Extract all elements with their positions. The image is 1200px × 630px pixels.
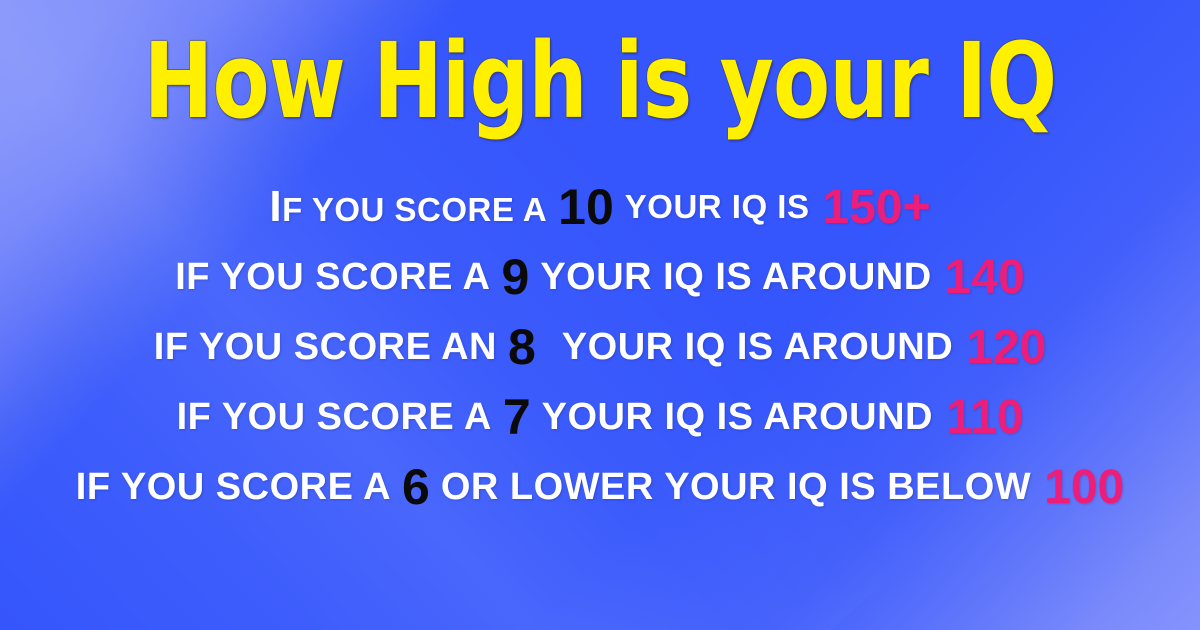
iq-value: 140 (941, 250, 1025, 305)
iq-value: 110 (942, 390, 1023, 445)
score-list: If you score a 10 your iq is 150+ if you… (0, 172, 1200, 522)
score-line: if you score a 7 your iq is around 110 (0, 382, 1200, 452)
score-value: 6 (400, 458, 432, 516)
score-line-middle: your iq is around (542, 396, 933, 439)
score-value: 8 (506, 318, 538, 376)
score-line-middle: your iq is around (540, 256, 931, 299)
iq-value: 100 (1040, 460, 1124, 515)
score-line-prefix: if you score a (177, 396, 492, 439)
score-line: if you score a 6 or lower your iq is bel… (0, 452, 1200, 522)
score-line-prefix: if you score a (175, 256, 490, 299)
score-line-middle: or lower your iq is below (441, 466, 1031, 509)
poster-content: How High is your IQ If you score a 10 yo… (0, 0, 1200, 630)
prefix-rest: f you score a (282, 191, 547, 228)
score-value: 10 (556, 178, 616, 236)
score-line-middle: your iq is (625, 188, 810, 226)
score-value: 7 (501, 388, 533, 446)
score-line-prefix: If you score a (269, 182, 547, 232)
score-value: 9 (500, 248, 532, 306)
score-line: if you score an 8 your iq is around 120 (0, 312, 1200, 382)
score-line: if you score a 9 your iq is around 140 (0, 242, 1200, 312)
score-line-prefix: if you score an (154, 326, 497, 369)
poster-title: How High is your IQ (120, 26, 1080, 136)
score-line-middle: your iq is around (562, 326, 953, 369)
iq-value: 120 (962, 320, 1046, 375)
iq-value: 150+ (818, 180, 930, 235)
score-line-prefix: if you score a (76, 466, 391, 509)
iq-poster: How High is your IQ If you score a 10 yo… (0, 0, 1200, 630)
score-line: If you score a 10 your iq is 150+ (0, 172, 1200, 242)
leading-cap: I (269, 182, 282, 231)
